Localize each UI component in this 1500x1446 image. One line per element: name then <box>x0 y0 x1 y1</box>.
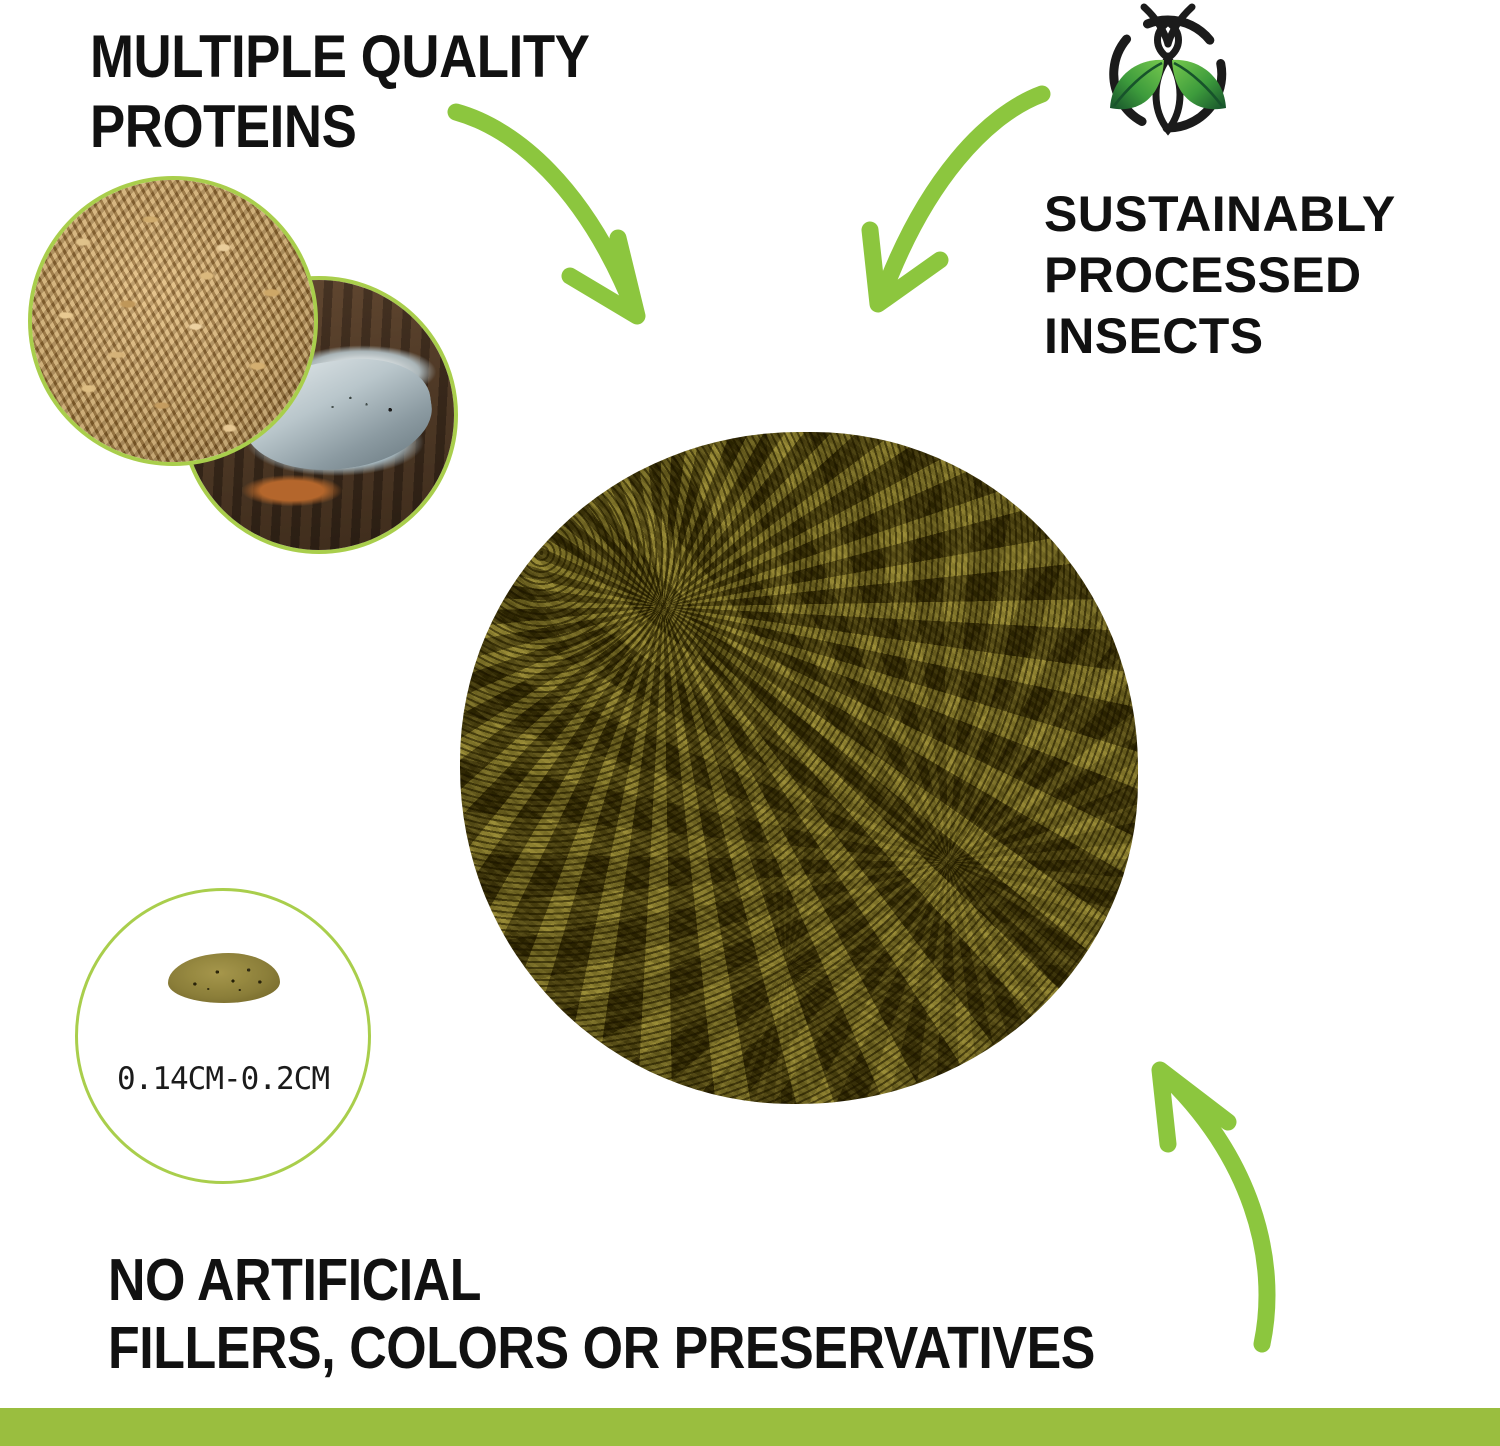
arrow-insects-to-pile <box>848 52 1098 332</box>
kibble-size-reference: 0.14CM-0.2CM <box>75 888 371 1184</box>
black-soldier-fly-larvae-photo <box>28 176 318 466</box>
kibble-pile-photo <box>460 432 1138 1104</box>
protein-photo-cluster <box>22 172 462 562</box>
footer-accent-bar <box>0 1408 1500 1446</box>
infographic-page: MULTIPLE QUALITY PROTEINS <box>0 0 1500 1446</box>
arrow-proteins-to-pile <box>440 88 700 348</box>
arrow-fillers-to-pile <box>1128 1044 1318 1364</box>
kibble-pile-core <box>460 432 1138 1104</box>
larvae-photo-background <box>32 180 314 462</box>
insect-leaf-logo <box>1098 2 1238 157</box>
heading-no-artificial-fillers: NO ARTIFICIAL FILLERS, COLORS OR PRESERV… <box>108 1246 1095 1383</box>
kibble-size-label: 0.14CM-0.2CM <box>78 1061 368 1097</box>
single-kibble-granule <box>168 953 280 1003</box>
